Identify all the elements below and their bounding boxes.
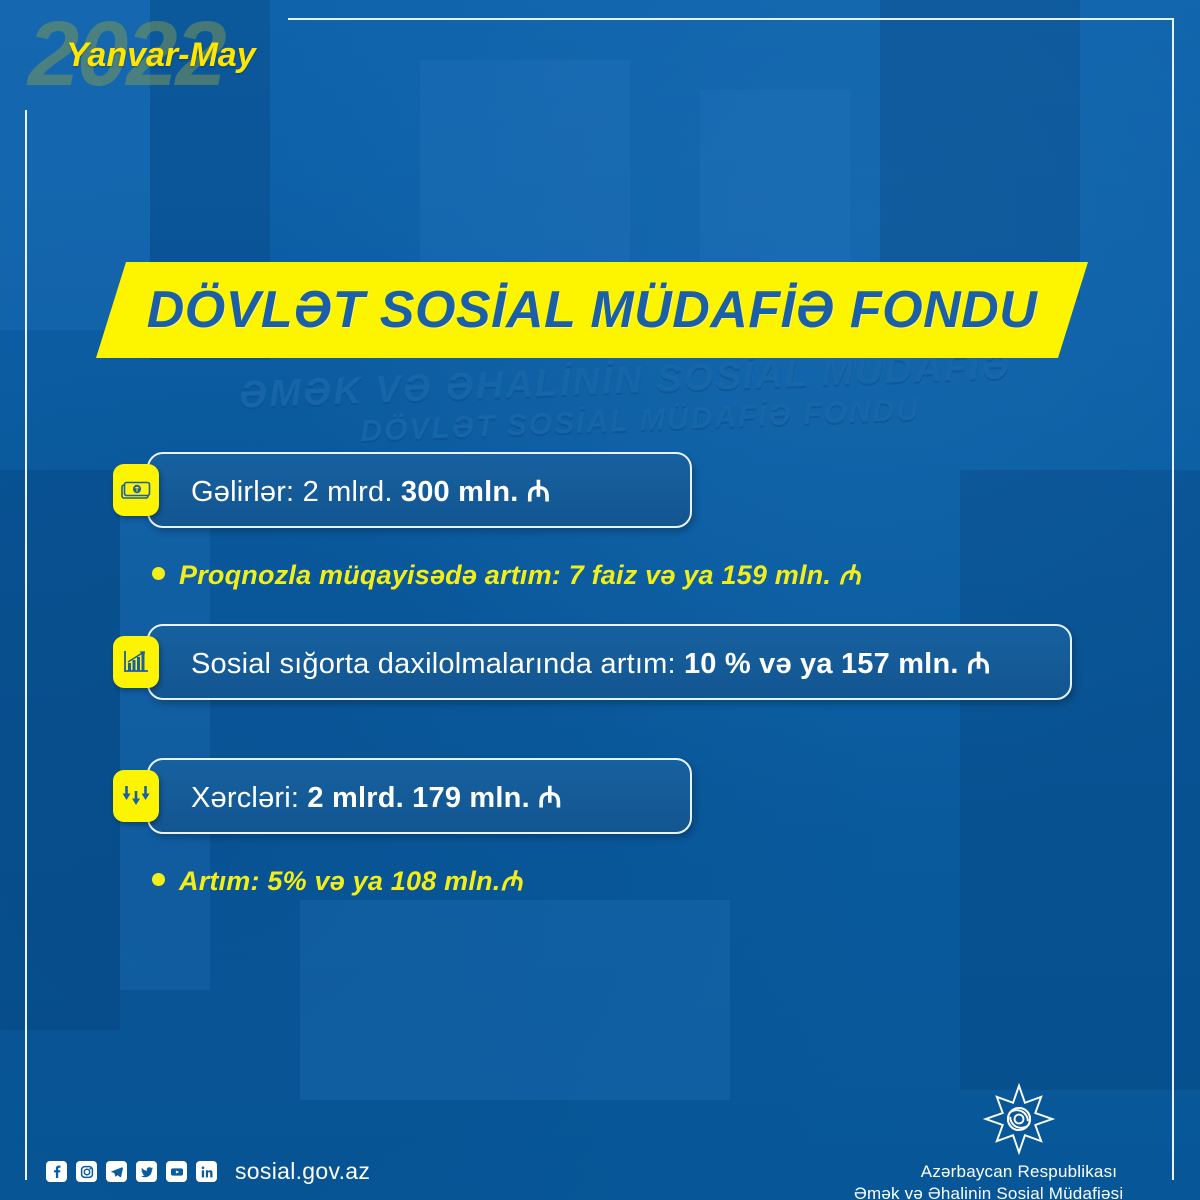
ministry-line2: Əmək və Əhalinin Sosial Müdafiəsi Nazirl… xyxy=(854,1184,1184,1200)
ministry-line1: Azərbaycan Respublikası xyxy=(921,1162,1117,1182)
expenses-card: Xərcləri: 2 mlrd. 179 mln. ₼ xyxy=(147,758,692,834)
income-card: Gəlirlər: 2 mlrd. 300 mln. ₼ xyxy=(147,452,692,528)
arrows-down-icon xyxy=(113,770,159,822)
expenses-text: Xərcləri: 2 mlrd. 179 mln. ₼ xyxy=(191,777,562,816)
website-url[interactable]: sosial.gov.az xyxy=(235,1158,370,1185)
twitter-icon[interactable] xyxy=(136,1161,157,1182)
frame-line-top xyxy=(288,18,1174,20)
background-sign-line2: DÖVLƏT SOSİAL MÜDAFİƏ FONDU xyxy=(360,388,1061,449)
background-photo: ƏMƏK VƏ ƏHALİNİN SOSİAL MÜDAFİƏ DÖVLƏT S… xyxy=(0,0,1200,1200)
stat-row-expenses: Xərcləri: 2 mlrd. 179 mln. ₼ xyxy=(113,758,692,834)
bullet-income-growth-text: Proqnozla müqayisədə artım: 7 faiz və ya… xyxy=(179,555,861,592)
frame-line-right xyxy=(1172,18,1174,1180)
bar-chart-up-icon xyxy=(113,636,159,688)
bullet-dot-icon xyxy=(152,873,165,886)
insurance-card: Sosial sığorta daxilolmalarında artım: 1… xyxy=(147,624,1072,700)
bullet-expense-growth: Artım: 5% və ya 108 mln.₼ xyxy=(152,861,523,898)
bullet-income-growth: Proqnozla müqayisədə artım: 7 faiz və ya… xyxy=(152,555,861,592)
period-label: Yanvar-May xyxy=(66,36,256,75)
stat-row-insurance: Sosial sığorta daxilolmalarında artım: 1… xyxy=(113,624,1072,700)
ministry-brand: Azərbaycan Respublikası Əmək və Əhalinin… xyxy=(854,1082,1184,1200)
ministry-star-logo xyxy=(982,1082,1056,1156)
bullet-dot-icon xyxy=(152,567,165,580)
income-text: Gəlirlər: 2 mlrd. 300 mln. ₼ xyxy=(191,471,550,510)
stat-row-income: Gəlirlər: 2 mlrd. 300 mln. ₼ xyxy=(113,452,692,528)
bullet-expense-growth-text: Artım: 5% və ya 108 mln.₼ xyxy=(179,861,523,898)
infographic-poster: ƏMƏK VƏ ƏHALİNİN SOSİAL MÜDAFİƏ DÖVLƏT S… xyxy=(0,0,1200,1200)
insurance-text: Sosial sığorta daxilolmalarında artım: 1… xyxy=(191,643,991,682)
page-title: DÖVLƏT SOSİAL MÜDAFİƏ FONDU xyxy=(147,280,1038,340)
youtube-icon[interactable] xyxy=(166,1161,187,1182)
facebook-icon[interactable] xyxy=(46,1161,67,1182)
frame-line-left xyxy=(25,110,27,1180)
social-links: sosial.gov.az xyxy=(46,1158,370,1185)
banknotes-icon xyxy=(113,464,159,516)
instagram-icon[interactable] xyxy=(76,1161,97,1182)
telegram-icon[interactable] xyxy=(106,1161,127,1182)
linkedin-icon[interactable] xyxy=(196,1161,217,1182)
title-banner: DÖVLƏT SOSİAL MÜDAFİƏ FONDU xyxy=(96,262,1088,358)
